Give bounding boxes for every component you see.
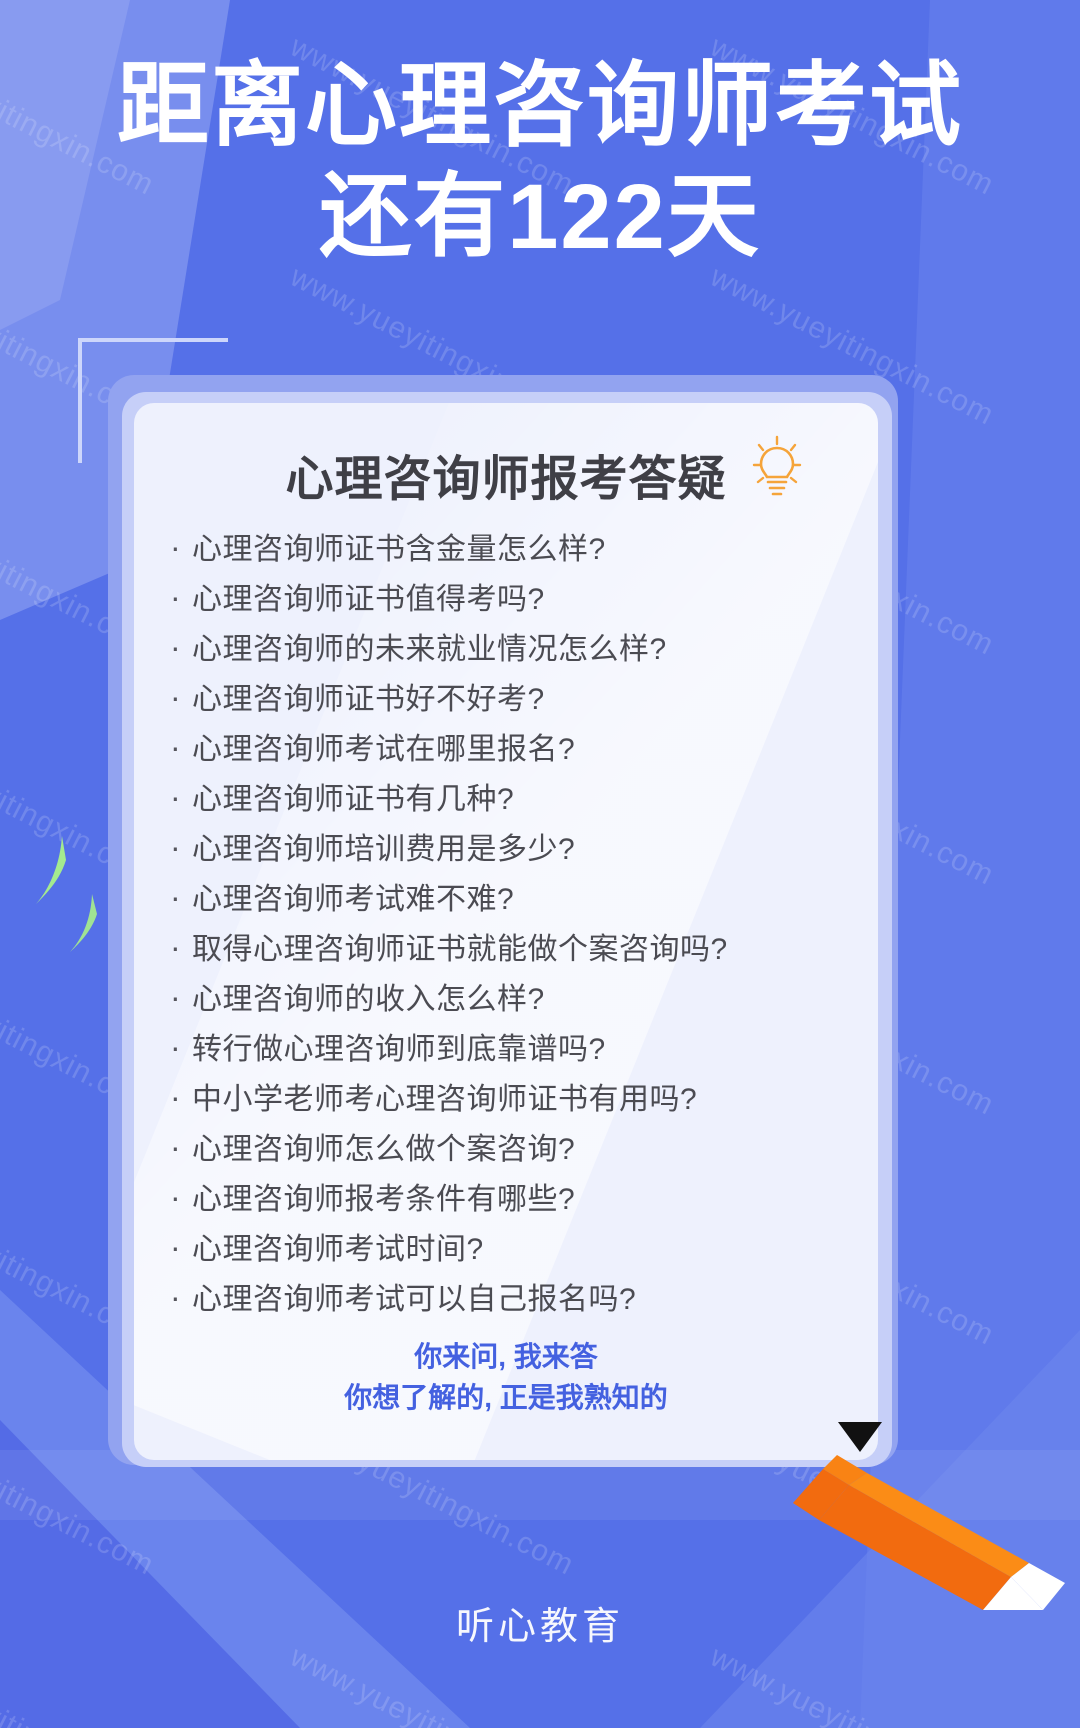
header-line-1: 距离心理咨询师考试 — [0, 52, 1080, 161]
question-item: 转行做心理咨询师到底靠谱吗? — [168, 1035, 878, 1065]
question-item: 心理咨询师的未来就业情况怎么样? — [168, 635, 878, 665]
question-item: 心理咨询师证书含金量怎么样? — [168, 535, 878, 565]
question-item: 心理咨询师怎么做个案咨询? — [168, 1135, 878, 1165]
question-item: 心理咨询师考试可以自己报名吗? — [168, 1285, 878, 1315]
poster-header: 距离心理咨询师考试 还有122天 — [0, 52, 1080, 271]
card-title: 心理咨询师报考答疑 — [285, 453, 726, 506]
question-item: 心理咨询师考试在哪里报名? — [168, 735, 878, 765]
question-item: 心理咨询师考试难不难? — [168, 885, 878, 915]
question-item: 中小学老师考心理咨询师证书有用吗? — [168, 1085, 878, 1115]
tagline-line-1: 你来问, 我来答 — [134, 1337, 878, 1378]
question-item: 心理咨询师报考条件有哪些? — [168, 1185, 878, 1215]
question-item: 心理咨询师证书值得考吗? — [168, 585, 878, 615]
header-line-2: 还有122天 — [0, 163, 1080, 272]
orange-marker-icon — [775, 1425, 1080, 1610]
question-list: 心理咨询师证书含金量怎么样?心理咨询师证书值得考吗?心理咨询师的未来就业情况怎么… — [168, 535, 878, 1315]
triangle-cursor-icon — [838, 1422, 882, 1452]
question-item: 取得心理咨询师证书就能做个案咨询吗? — [168, 935, 878, 965]
question-item: 心理咨询师培训费用是多少? — [168, 835, 878, 865]
qa-card: 心理咨询师报考答疑 心理咨询师证书含金量怎么样?心理咨询师证书值得考吗?心理咨询… — [134, 403, 878, 1460]
question-item: 心理咨询师证书有几种? — [168, 785, 878, 815]
question-item: 心理咨询师考试时间? — [168, 1235, 878, 1265]
question-item: 心理咨询师的收入怎么样? — [168, 985, 878, 1015]
card-tagline: 你来问, 我来答 你想了解的, 正是我熟知的 — [134, 1337, 878, 1418]
card-title-row: 心理咨询师报考答疑 — [134, 439, 878, 509]
lightbulb-icon — [750, 435, 804, 499]
tagline-line-2: 你想了解的, 正是我熟知的 — [134, 1378, 878, 1419]
question-item: 心理咨询师证书好不好考? — [168, 685, 878, 715]
